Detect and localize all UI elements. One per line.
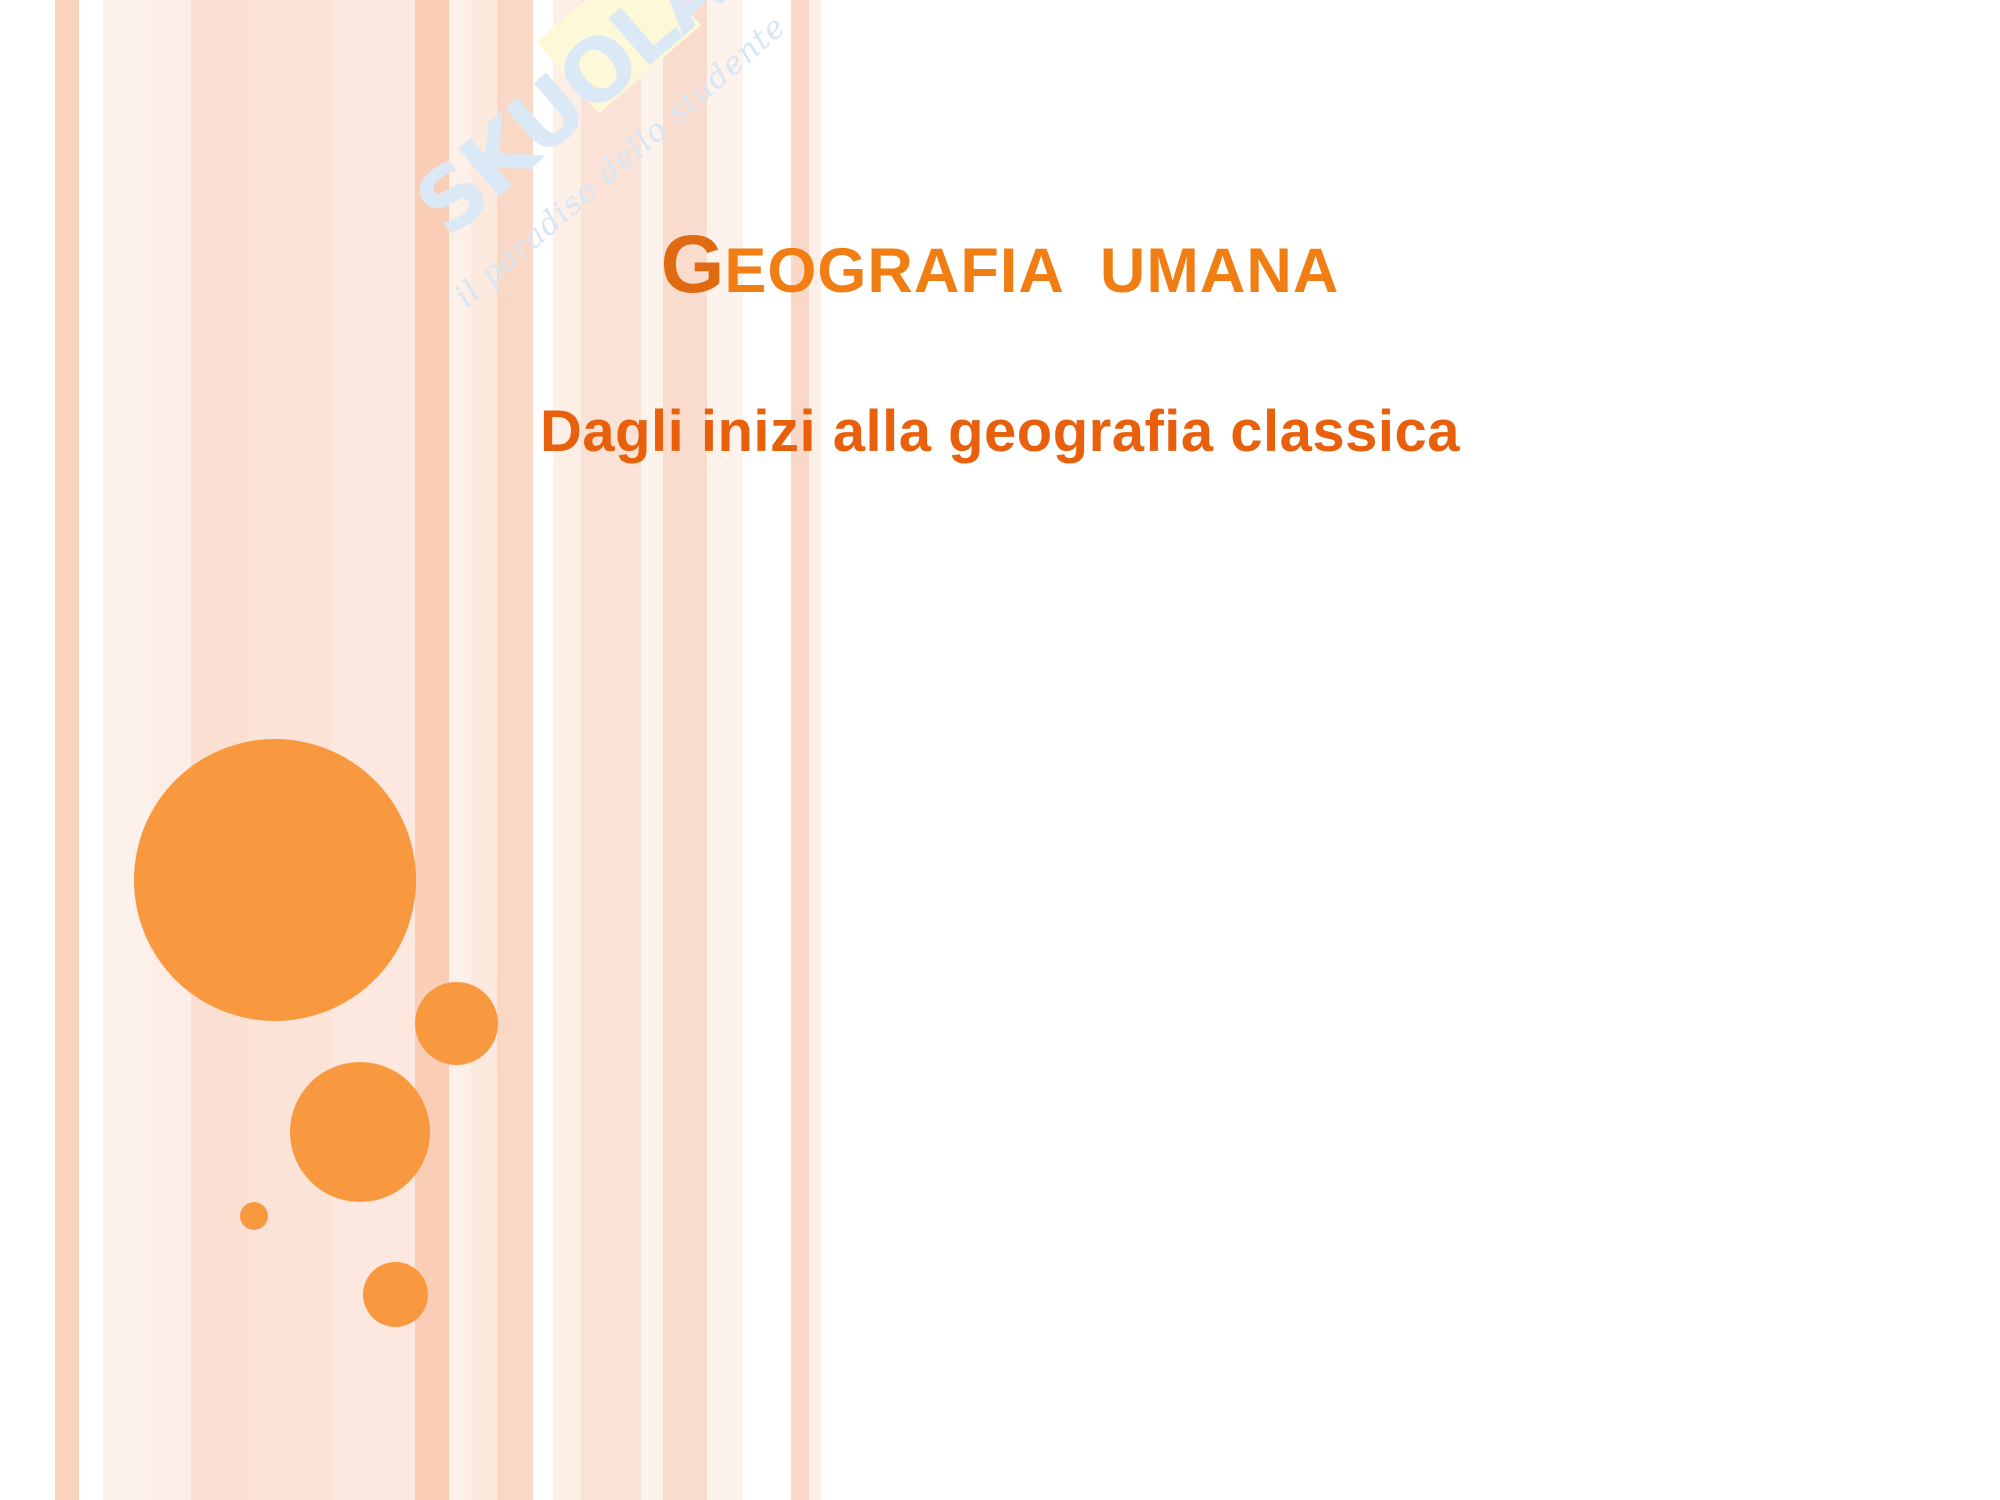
decoration-circle-dot [240,1202,268,1230]
decoration-circle-small-lower [363,1262,428,1327]
slide-title: GEOGRAFIA UMANA [0,224,2000,306]
title-first-word-rest: EOGRAFIA [724,236,1065,306]
decoration-circle-small-upper [415,982,498,1065]
title-word-space [1065,236,1100,306]
title-drop-cap: G [661,219,725,310]
presentation-slide: SKUOLA.net il paradiso dello studente GE… [0,0,2000,1500]
title-second-word: UMANA [1100,236,1339,306]
slide-subtitle: Dagli inizi alla geografia classica [0,398,2000,465]
decoration-circle-large [134,739,416,1021]
decoration-circle-medium [290,1062,430,1202]
